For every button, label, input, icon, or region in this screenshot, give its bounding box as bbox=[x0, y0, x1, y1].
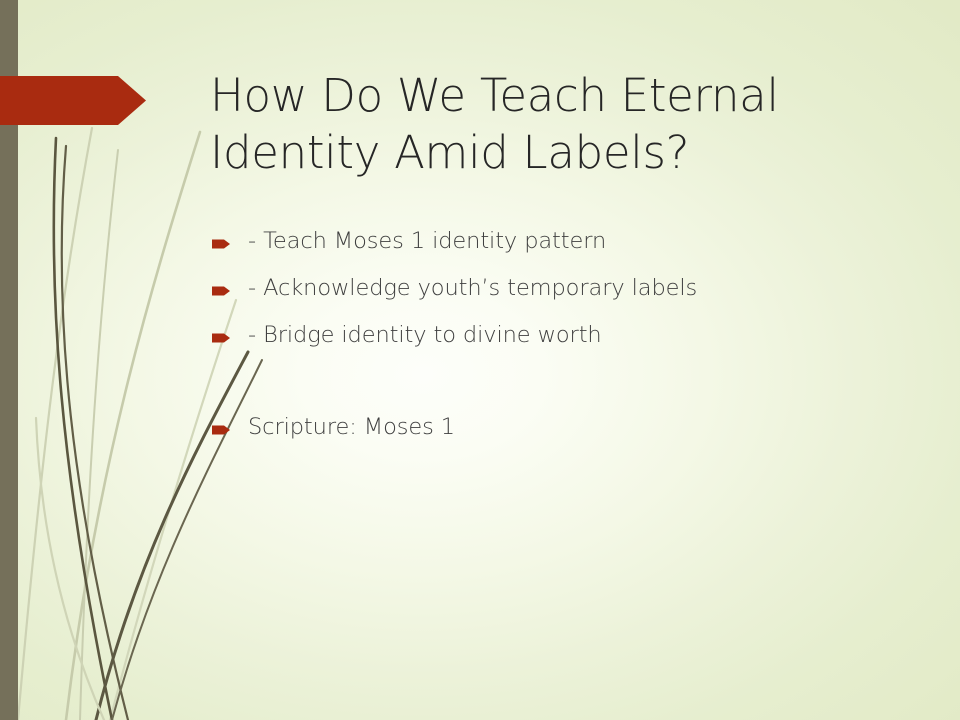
slide-canvas: How Do We Teach Eternal Identity Amid La… bbox=[0, 0, 960, 720]
bullet-item: - Bridge identity to divine worth bbox=[212, 322, 912, 348]
slide-body-list: - Teach Moses 1 identity pattern - Ackno… bbox=[212, 228, 912, 461]
bullet-item-blank bbox=[212, 369, 912, 393]
arrow-bullet-icon bbox=[212, 279, 234, 303]
arrow-bullet-icon bbox=[212, 418, 234, 442]
arrow-bullet-icon bbox=[212, 326, 234, 350]
bullet-text: Scripture: Moses 1 bbox=[248, 414, 455, 440]
red-arrow-banner bbox=[0, 76, 146, 125]
slide-title: How Do We Teach Eternal Identity Amid La… bbox=[210, 68, 910, 181]
bullet-item: - Acknowledge youth’s temporary labels bbox=[212, 275, 912, 301]
arrow-bullet-icon bbox=[212, 232, 234, 256]
bullet-text: - Teach Moses 1 identity pattern bbox=[248, 228, 606, 254]
bullet-item: - Teach Moses 1 identity pattern bbox=[212, 228, 912, 254]
bullet-text: - Acknowledge youth’s temporary labels bbox=[248, 275, 697, 301]
bullet-item: Scripture: Moses 1 bbox=[212, 414, 912, 440]
bullet-text: - Bridge identity to divine worth bbox=[248, 322, 602, 348]
